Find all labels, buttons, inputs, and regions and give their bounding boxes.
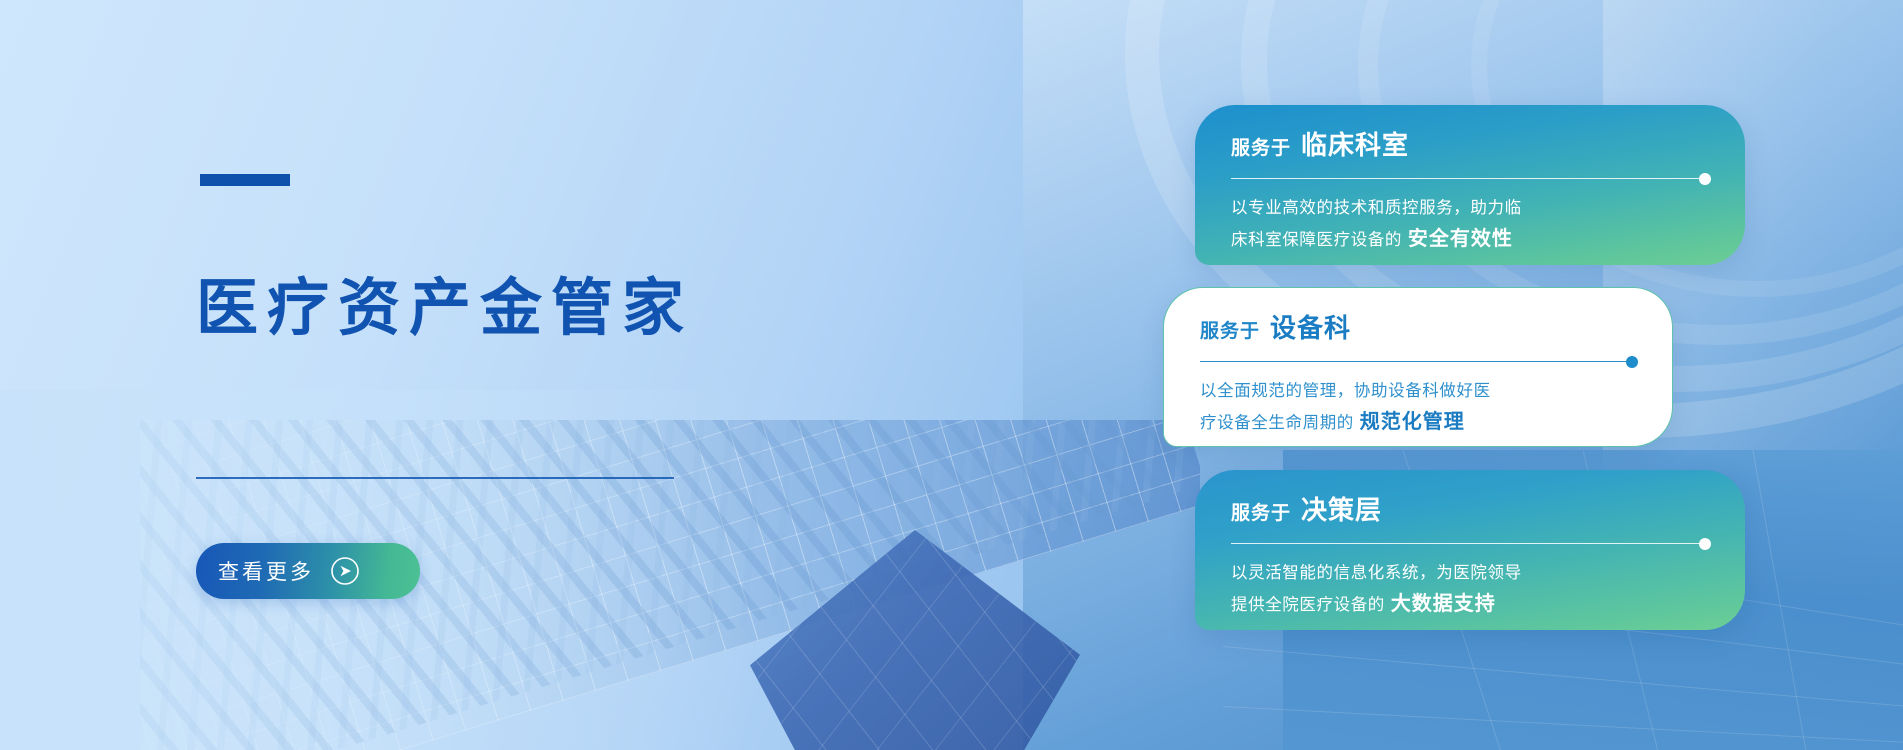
card-desc-line2: 提供全院医疗设备的 bbox=[1231, 595, 1385, 614]
card-title-prefix: 服务于 bbox=[1231, 139, 1291, 158]
card-desc-line1: 以专业高效的技术和质控服务，助力临 bbox=[1231, 198, 1522, 217]
card-title-prefix: 服务于 bbox=[1200, 322, 1260, 341]
card-rule-line bbox=[1231, 543, 1699, 544]
card-rule-dot bbox=[1626, 356, 1638, 368]
card-desc-highlight: 规范化管理 bbox=[1360, 409, 1465, 433]
service-cards: 服务于 临床科室 以专业高效的技术和质控服务，助力临 床科室保障医疗设备的 安全… bbox=[0, 0, 1903, 750]
card-description: 以灵活智能的信息化系统，为医院领导 提供全院医疗设备的 大数据支持 bbox=[1231, 560, 1711, 619]
card-title-target: 决策层 bbox=[1301, 498, 1382, 524]
card-rule bbox=[1231, 173, 1711, 185]
card-description: 以专业高效的技术和质控服务，助力临 床科室保障医疗设备的 安全有效性 bbox=[1231, 195, 1711, 254]
service-card-clinical-department[interactable]: 服务于 临床科室 以专业高效的技术和质控服务，助力临 床科室保障医疗设备的 安全… bbox=[1195, 105, 1745, 265]
card-desc-line2: 疗设备全生命周期的 bbox=[1200, 413, 1354, 432]
hero-banner: 医疗资产金管家 查看更多 服务于 临床科室 以专业 bbox=[0, 0, 1903, 750]
card-rule-line bbox=[1231, 178, 1699, 179]
card-title-prefix: 服务于 bbox=[1231, 504, 1291, 523]
card-description: 以全面规范的管理，协助设备科做好医 疗设备全生命周期的 规范化管理 bbox=[1200, 378, 1638, 437]
service-card-equipment-department[interactable]: 服务于 设备科 以全面规范的管理，协助设备科做好医 疗设备全生命周期的 规范化管… bbox=[1163, 287, 1673, 447]
card-rule bbox=[1231, 538, 1711, 550]
card-title: 服务于 临床科室 bbox=[1231, 133, 1711, 159]
card-title: 服务于 设备科 bbox=[1200, 316, 1638, 342]
service-card-decision-layer[interactable]: 服务于 决策层 以灵活智能的信息化系统，为医院领导 提供全院医疗设备的 大数据支… bbox=[1195, 470, 1745, 630]
card-title-target: 临床科室 bbox=[1301, 133, 1409, 159]
card-desc-line1: 以灵活智能的信息化系统，为医院领导 bbox=[1231, 563, 1522, 582]
card-rule-dot bbox=[1699, 173, 1711, 185]
card-rule-dot bbox=[1699, 538, 1711, 550]
card-desc-line2: 床科室保障医疗设备的 bbox=[1231, 230, 1402, 249]
card-desc-highlight: 安全有效性 bbox=[1408, 226, 1513, 250]
card-desc-line1: 以全面规范的管理，协助设备科做好医 bbox=[1200, 381, 1491, 400]
card-rule bbox=[1200, 356, 1638, 368]
card-title-target: 设备科 bbox=[1270, 316, 1351, 342]
card-title: 服务于 决策层 bbox=[1231, 498, 1711, 524]
card-desc-highlight: 大数据支持 bbox=[1391, 591, 1496, 615]
card-rule-line bbox=[1200, 361, 1626, 362]
